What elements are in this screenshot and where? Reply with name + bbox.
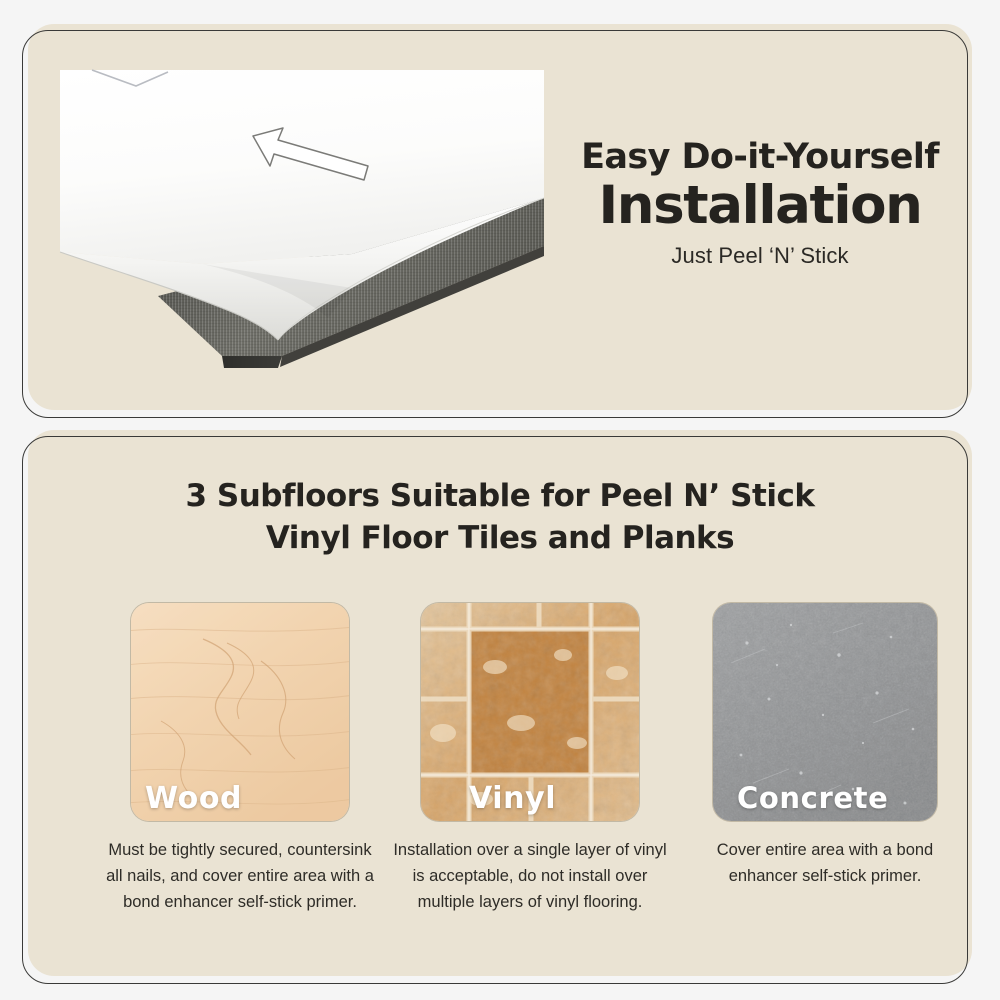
wood-grain-swatch: Wood — [131, 603, 349, 821]
hero-subheadline: Just Peel ‘N’ Stick — [560, 243, 960, 269]
subfloor-caption-wood: Must be tightly secured, countersink all… — [95, 837, 385, 915]
subfloors-heading-line2: Vinyl Floor Tiles and Planks — [28, 518, 972, 560]
subfloor-swatch-grid: Wood Must be tightly secured, countersin… — [28, 603, 972, 933]
vinyl-stone-swatch: Vinyl — [421, 603, 639, 821]
subfloors-heading: 3 Subfloors Suitable for Peel N’ Stick V… — [28, 476, 972, 560]
subfloor-item-vinyl: Vinyl Installation over a single layer o… — [385, 603, 675, 915]
hero-headline-line1: Easy Do-it-Yourself — [560, 140, 960, 176]
peel-n-stick-tile-photo — [52, 56, 544, 378]
swatch-label-wood: Wood — [145, 782, 242, 815]
subfloor-item-wood: Wood Must be tightly secured, countersin… — [95, 603, 385, 915]
hero-copy: Easy Do-it-Yourself Installation Just Pe… — [560, 140, 960, 269]
concrete-texture-swatch: Concrete — [713, 603, 937, 821]
infographic-stage: Easy Do-it-Yourself Installation Just Pe… — [0, 0, 1000, 1000]
swatch-label-concrete: Concrete — [737, 783, 888, 815]
subfloor-item-concrete: Concrete Cover entire area with a bond e… — [680, 603, 970, 889]
subfloor-caption-concrete: Cover entire area with a bond enhancer s… — [680, 837, 970, 889]
hero-headline-line2: Installation — [560, 178, 960, 233]
subfloor-caption-vinyl: Installation over a single layer of viny… — [385, 837, 675, 915]
subfloors-heading-line1: 3 Subfloors Suitable for Peel N’ Stick — [28, 476, 972, 518]
swatch-label-vinyl: Vinyl — [469, 782, 556, 815]
